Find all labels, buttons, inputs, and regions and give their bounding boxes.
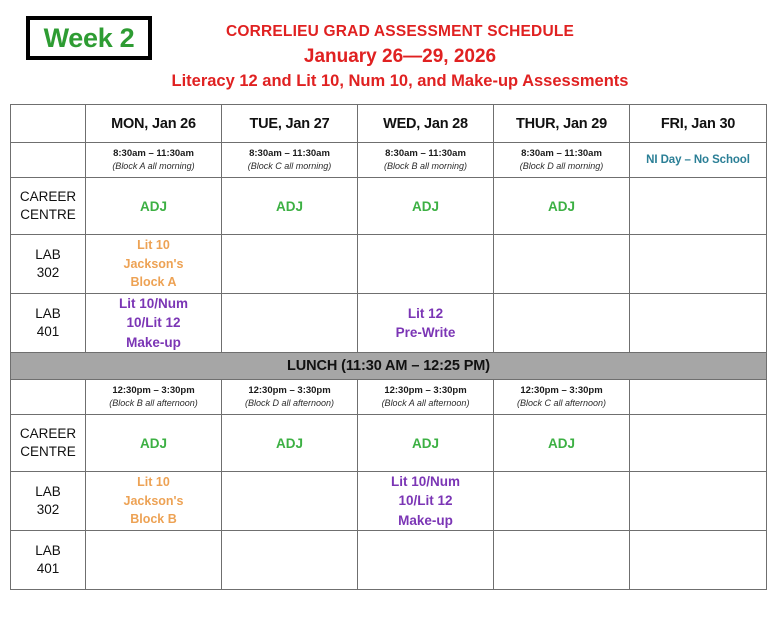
lunch-row: LUNCH (11:30 AM – 12:25 PM) xyxy=(11,353,767,380)
afternoon-row-lab-401: LAB 401 xyxy=(11,531,767,590)
adj-label: ADJ xyxy=(412,436,439,451)
row-label-lab-302-pm: LAB 302 xyxy=(11,472,86,531)
row-label-line1: LAB xyxy=(35,483,61,501)
day-header-tue: TUE, Jan 27 xyxy=(222,105,358,143)
cell-afternoon-lab401-wed[interactable] xyxy=(358,531,494,590)
day-header-row: MON, Jan 26 TUE, Jan 27 WED, Jan 28 THUR… xyxy=(11,105,767,143)
cell-afternoon-career-mon[interactable]: ADJ xyxy=(86,415,222,472)
cell-morning-lab401-mon[interactable]: Lit 10/Num 10/Lit 12 Make-up xyxy=(86,294,222,353)
cell-morning-lab401-tue[interactable] xyxy=(222,294,358,353)
time-main: 12:30pm – 3:30pm xyxy=(520,385,602,398)
cell-afternoon-lab401-tue[interactable] xyxy=(222,531,358,590)
cell-morning-career-thur[interactable]: ADJ xyxy=(494,178,630,235)
row-label-line2: 401 xyxy=(37,323,60,341)
table-corner-cell xyxy=(11,105,86,143)
day-header-fri: FRI, Jan 30 xyxy=(630,105,767,143)
week-badge-label: Week 2 xyxy=(44,25,135,52)
schedule-page: Week 2 CORRELIEU GRAD ASSESSMENT SCHEDUL… xyxy=(0,0,776,641)
time-block: (Block A all morning) xyxy=(112,160,194,172)
cell-afternoon-lab302-mon[interactable]: Lit 10 Jackson's Block B xyxy=(86,472,222,531)
cell-morning-career-mon[interactable]: ADJ xyxy=(86,178,222,235)
time-main: 8:30am – 11:30am xyxy=(249,148,330,161)
day-header-wed: WED, Jan 28 xyxy=(358,105,494,143)
afternoon-time-fri xyxy=(630,380,767,415)
row-label-line2: CENTRE xyxy=(20,443,76,461)
cell-morning-lab401-fri[interactable] xyxy=(630,294,767,353)
assessment-line-3: Make-up xyxy=(126,333,181,352)
time-main: 8:30am – 11:30am xyxy=(385,148,466,161)
assessment-line-1: Lit 10 xyxy=(137,236,170,255)
row-label-line1: LAB xyxy=(35,246,61,264)
cell-morning-lab302-wed[interactable] xyxy=(358,235,494,294)
cell-afternoon-lab401-mon[interactable] xyxy=(86,531,222,590)
afternoon-time-mon: 12:30pm – 3:30pm (Block B all afternoon) xyxy=(86,380,222,415)
cell-afternoon-lab302-wed[interactable]: Lit 10/Num 10/Lit 12 Make-up xyxy=(358,472,494,531)
schedule-table-wrap: MON, Jan 26 TUE, Jan 27 WED, Jan 28 THUR… xyxy=(10,104,766,590)
page-header: Week 2 CORRELIEU GRAD ASSESSMENT SCHEDUL… xyxy=(0,0,776,100)
time-block: (Block C all morning) xyxy=(248,160,332,172)
cell-afternoon-lab401-fri[interactable] xyxy=(630,531,767,590)
assessment-line-2: Jackson's xyxy=(124,492,184,511)
cell-afternoon-career-fri[interactable] xyxy=(630,415,767,472)
adj-label: ADJ xyxy=(140,199,167,214)
afternoon-row-lab-302: LAB 302 Lit 10 Jackson's Block B Lit 10/… xyxy=(11,472,767,531)
row-label-line2: CENTRE xyxy=(20,206,76,224)
afternoon-time-tue: 12:30pm – 3:30pm (Block D all afternoon) xyxy=(222,380,358,415)
time-main: 12:30pm – 3:30pm xyxy=(384,385,466,398)
row-label-line2: 401 xyxy=(37,560,60,578)
cell-afternoon-lab302-tue[interactable] xyxy=(222,472,358,531)
assessment-line-1: Lit 10/Num xyxy=(119,294,188,313)
row-label-line1: LAB xyxy=(35,542,61,560)
cell-afternoon-lab302-fri[interactable] xyxy=(630,472,767,531)
adj-label: ADJ xyxy=(548,199,575,214)
week-badge: Week 2 xyxy=(26,16,152,60)
ni-day-note: NI Day – No School xyxy=(646,154,750,166)
time-main: 8:30am – 11:30am xyxy=(113,148,194,161)
adj-label: ADJ xyxy=(548,436,575,451)
time-main: 8:30am – 11:30am xyxy=(521,148,602,161)
morning-time-thur: 8:30am – 11:30am (Block D all morning) xyxy=(494,143,630,178)
cell-afternoon-career-thur[interactable]: ADJ xyxy=(494,415,630,472)
cell-morning-lab401-thur[interactable] xyxy=(494,294,630,353)
time-block: (Block A all afternoon) xyxy=(382,397,470,409)
afternoon-row-career-centre: CAREER CENTRE ADJ ADJ ADJ ADJ xyxy=(11,415,767,472)
row-label-line1: CAREER xyxy=(20,188,76,206)
time-block: (Block D all afternoon) xyxy=(245,397,334,409)
cell-morning-career-wed[interactable]: ADJ xyxy=(358,178,494,235)
morning-time-row-label xyxy=(11,143,86,178)
day-header-mon: MON, Jan 26 xyxy=(86,105,222,143)
time-main: 12:30pm – 3:30pm xyxy=(112,385,194,398)
cell-morning-lab302-tue[interactable] xyxy=(222,235,358,294)
cell-morning-lab401-wed[interactable]: Lit 12 Pre-Write xyxy=(358,294,494,353)
time-main: 12:30pm – 3:30pm xyxy=(248,385,330,398)
cell-morning-lab302-mon[interactable]: Lit 10 Jackson's Block A xyxy=(86,235,222,294)
morning-time-fri: NI Day – No School xyxy=(630,143,767,178)
cell-morning-lab302-fri[interactable] xyxy=(630,235,767,294)
time-block: (Block B all morning) xyxy=(384,160,467,172)
assessment-line-1: Lit 10 xyxy=(137,473,170,492)
assessment-line-1: Lit 12 xyxy=(408,304,443,323)
row-label-line1: CAREER xyxy=(20,425,76,443)
assessment-line-2: 10/Lit 12 xyxy=(126,313,180,332)
morning-row-lab-302: LAB 302 Lit 10 Jackson's Block A xyxy=(11,235,767,294)
row-label-lab-401-pm: LAB 401 xyxy=(11,531,86,590)
assessment-line-2: Pre-Write xyxy=(396,323,456,342)
row-label-line2: 302 xyxy=(37,501,60,519)
assessment-line-3: Block B xyxy=(130,510,177,529)
adj-label: ADJ xyxy=(276,199,303,214)
afternoon-time-row-label xyxy=(11,380,86,415)
page-subtitle-detail: Literacy 12 and Lit 10, Num 10, and Make… xyxy=(140,71,660,92)
time-block: (Block C all afternoon) xyxy=(517,397,606,409)
row-label-line2: 302 xyxy=(37,264,60,282)
morning-row-lab-401: LAB 401 Lit 10/Num 10/Lit 12 Make-up Lit… xyxy=(11,294,767,353)
cell-morning-career-fri[interactable] xyxy=(630,178,767,235)
lunch-label: LUNCH (11:30 AM – 12:25 PM) xyxy=(11,358,766,374)
morning-time-row: 8:30am – 11:30am (Block A all morning) 8… xyxy=(11,143,767,178)
afternoon-time-thur: 12:30pm – 3:30pm (Block C all afternoon) xyxy=(494,380,630,415)
afternoon-time-row: 12:30pm – 3:30pm (Block B all afternoon)… xyxy=(11,380,767,415)
row-label-lab-401: LAB 401 xyxy=(11,294,86,353)
day-header-thur: THUR, Jan 29 xyxy=(494,105,630,143)
cell-morning-career-tue[interactable]: ADJ xyxy=(222,178,358,235)
afternoon-time-wed: 12:30pm – 3:30pm (Block A all afternoon) xyxy=(358,380,494,415)
adj-label: ADJ xyxy=(140,436,167,451)
page-subtitle-dates: January 26—29, 2026 xyxy=(140,44,660,70)
lunch-cell: LUNCH (11:30 AM – 12:25 PM) xyxy=(11,353,767,380)
page-title: CORRELIEU GRAD ASSESSMENT SCHEDULE xyxy=(140,22,660,43)
assessment-line-3: Block A xyxy=(130,273,176,292)
adj-label: ADJ xyxy=(276,436,303,451)
cell-afternoon-career-wed[interactable]: ADJ xyxy=(358,415,494,472)
adj-label: ADJ xyxy=(412,199,439,214)
row-label-career-centre-pm: CAREER CENTRE xyxy=(11,415,86,472)
title-block: CORRELIEU GRAD ASSESSMENT SCHEDULE Janua… xyxy=(140,22,660,92)
cell-afternoon-lab302-thur[interactable] xyxy=(494,472,630,531)
row-label-lab-302: LAB 302 xyxy=(11,235,86,294)
assessment-line-3: Make-up xyxy=(398,511,453,530)
cell-afternoon-lab401-thur[interactable] xyxy=(494,531,630,590)
schedule-table: MON, Jan 26 TUE, Jan 27 WED, Jan 28 THUR… xyxy=(10,104,767,590)
morning-time-tue: 8:30am – 11:30am (Block C all morning) xyxy=(222,143,358,178)
cell-afternoon-career-tue[interactable]: ADJ xyxy=(222,415,358,472)
morning-time-wed: 8:30am – 11:30am (Block B all morning) xyxy=(358,143,494,178)
row-label-line1: LAB xyxy=(35,305,61,323)
morning-time-mon: 8:30am – 11:30am (Block A all morning) xyxy=(86,143,222,178)
row-label-career-centre: CAREER CENTRE xyxy=(11,178,86,235)
assessment-line-2: 10/Lit 12 xyxy=(398,491,452,510)
morning-row-career-centre: CAREER CENTRE ADJ ADJ ADJ ADJ xyxy=(11,178,767,235)
assessment-line-2: Jackson's xyxy=(124,255,184,274)
time-block: (Block D all morning) xyxy=(520,160,604,172)
cell-morning-lab302-thur[interactable] xyxy=(494,235,630,294)
time-block: (Block B all afternoon) xyxy=(109,397,198,409)
assessment-line-1: Lit 10/Num xyxy=(391,472,460,491)
